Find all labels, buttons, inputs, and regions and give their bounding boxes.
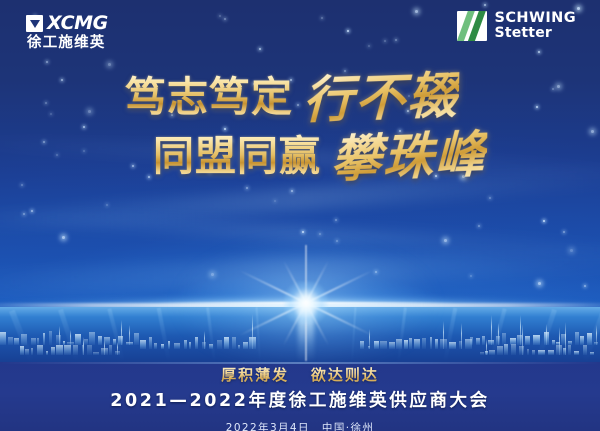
xcmg-wordmark: XCMG: [47, 14, 108, 33]
schwing-wordmark: SCHWING: [495, 11, 576, 26]
tower-spire: [83, 337, 84, 355]
slogan-line: 厚积薄发 欲达则达: [0, 366, 600, 385]
building-silhouette: [37, 345, 44, 355]
tower-spire: [522, 324, 523, 355]
triangle-in-square-icon: [26, 15, 43, 32]
building-silhouette: [161, 344, 164, 349]
building-silhouette: [56, 345, 63, 355]
city-skyline: [480, 321, 590, 355]
tower-spire: [461, 323, 462, 349]
tower-spire: [596, 325, 597, 345]
tower-spire: [565, 322, 566, 355]
building-silhouette: [470, 337, 473, 345]
headline-line1-bold: 笃志笃定: [125, 74, 293, 122]
building-silhouette: [20, 346, 24, 355]
building-silhouette: [14, 338, 19, 345]
schwing-stetter-logo: SCHWING Stetter: [457, 11, 576, 41]
xcmg-chinese-name: 徐工施维英: [26, 36, 108, 51]
slogan-part-b: 欲达则达: [311, 366, 379, 384]
building-silhouette: [590, 352, 594, 355]
tower-spire: [443, 321, 444, 349]
building-silhouette: [25, 349, 29, 355]
xcmg-logo: XCMG 徐工施维英: [26, 14, 108, 51]
tower-spire: [121, 320, 122, 345]
headline-block: 笃志笃定 行不辍 同盟同赢 攀珠峰: [0, 72, 600, 183]
building-silhouette: [64, 345, 71, 355]
building-silhouette: [489, 350, 495, 355]
building-silhouette: [532, 350, 535, 355]
tower-spire: [129, 325, 130, 345]
building-silhouette: [504, 344, 507, 355]
building-silhouette: [480, 352, 484, 355]
building-silhouette: [497, 346, 503, 355]
building-silhouette: [449, 342, 456, 349]
building-silhouette: [0, 332, 6, 345]
building-silhouette: [538, 350, 545, 355]
tower-spire: [104, 340, 105, 355]
event-banner: XCMG 徐工施维英 SCHWING Stetter 笃志笃定 行不辍 同盟同赢…: [0, 0, 600, 431]
stetter-wordmark: Stetter: [495, 26, 576, 41]
building-silhouette: [568, 345, 571, 355]
building-silhouette: [134, 333, 139, 345]
building-silhouette: [93, 352, 99, 355]
green-diagonal-stripes-icon: [457, 11, 487, 41]
caption-block: 厚积薄发 欲达则达 2021—2022年度徐工施维英供应商大会 2022年3月4…: [0, 366, 600, 431]
building-silhouette: [149, 337, 152, 349]
building-silhouette: [548, 350, 554, 355]
event-title: 2021—2022年度徐工施维英供应商大会: [0, 391, 600, 413]
building-silhouette: [168, 341, 171, 350]
building-silhouette: [46, 351, 48, 355]
building-silhouette: [51, 347, 55, 355]
slogan-part-a: 厚积薄发: [221, 366, 289, 384]
event-location: 中国·徐州: [322, 422, 374, 431]
event-date: 2022年3月4日: [226, 422, 310, 431]
burst-core: [284, 281, 328, 325]
headline-line2-bold: 同盟同赢: [153, 133, 321, 181]
building-silhouette: [109, 345, 112, 355]
tower-spire: [486, 339, 487, 355]
event-date-location: 2022年3月4日中国·徐州: [0, 420, 600, 431]
building-silhouette: [31, 348, 34, 355]
city-skyline: [20, 321, 120, 355]
building-silhouette: [140, 340, 146, 349]
building-silhouette: [574, 351, 579, 355]
building-silhouette: [527, 349, 529, 355]
headline-line1-script: 行不辍: [303, 69, 460, 127]
headline-line2-script: 攀珠峰: [331, 128, 488, 186]
building-silhouette: [583, 345, 587, 355]
building-silhouette: [511, 344, 516, 355]
building-silhouette: [8, 337, 14, 345]
tower-spire: [117, 342, 118, 355]
building-silhouette: [154, 343, 157, 349]
tower-spire: [559, 327, 560, 355]
building-silhouette: [87, 345, 91, 355]
building-silhouette: [73, 345, 79, 355]
